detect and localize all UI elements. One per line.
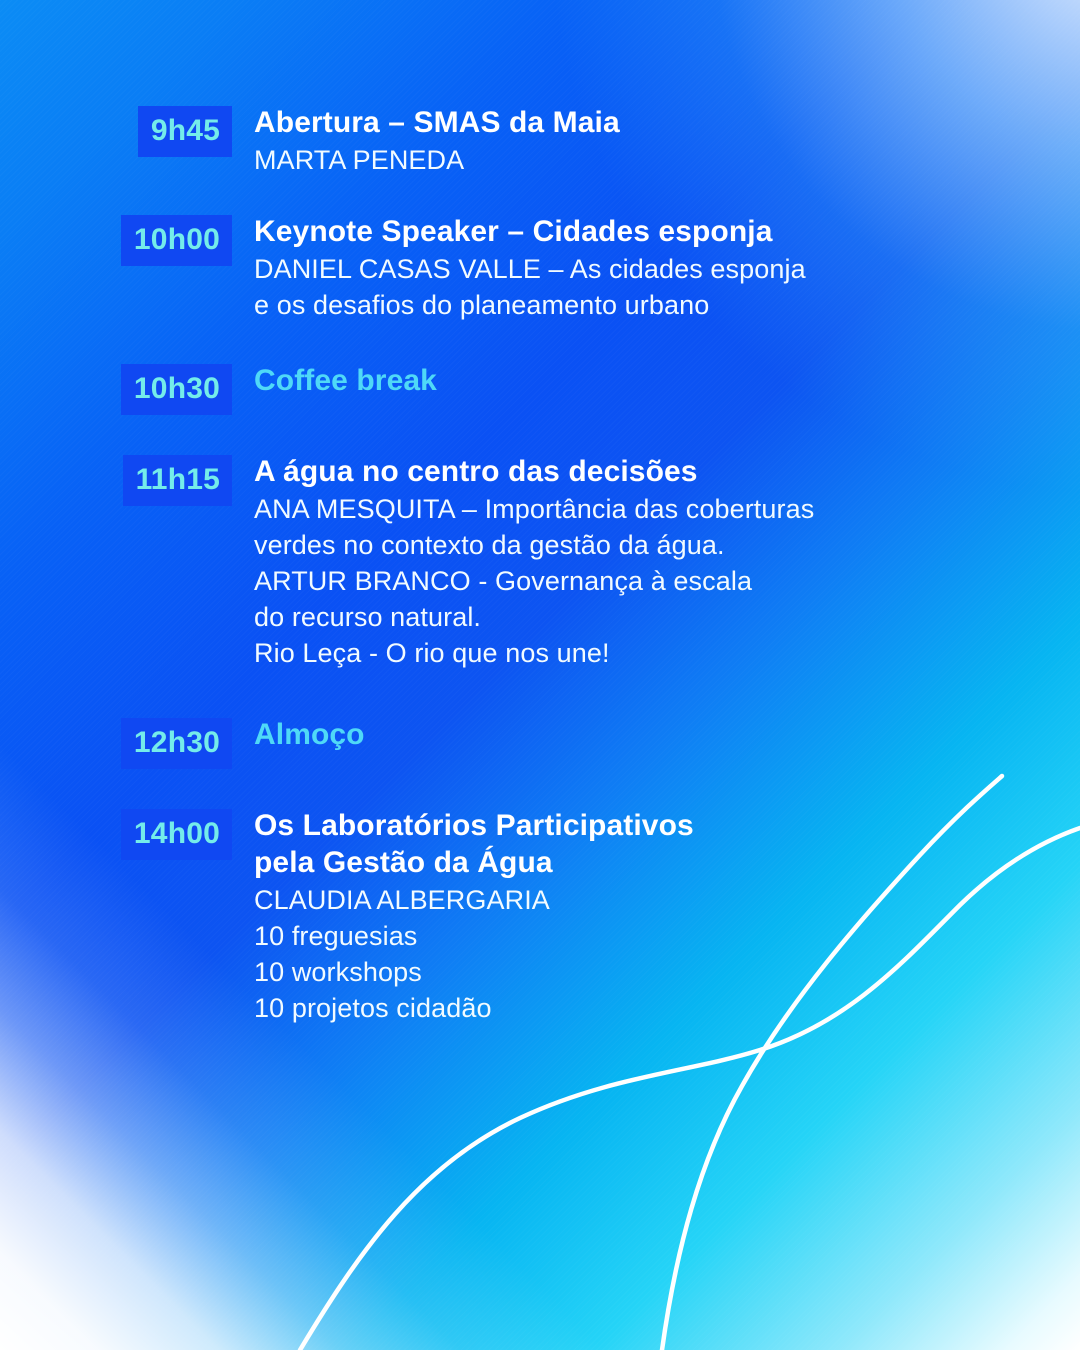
row-spacer: [0, 672, 1080, 716]
agenda-poster: 9h45 Abertura – SMAS da Maia MARTA PENED…: [0, 0, 1080, 1350]
text-column: Abertura – SMAS da Maia MARTA PENEDA: [232, 104, 1080, 179]
agenda-row-10h30: 10h30 Coffee break: [0, 362, 1080, 415]
text-column: Os Laboratórios Participativos pela Gest…: [232, 807, 1080, 1027]
time-column: 14h00: [0, 807, 232, 860]
time-column: 10h30: [0, 362, 232, 415]
text-column: Almoço: [232, 716, 1080, 755]
time-badge-9h45: 9h45: [138, 106, 232, 157]
time-badge-10h00: 10h00: [121, 215, 232, 266]
row-spacer: [0, 415, 1080, 453]
session-body-10h00: DANIEL CASAS VALLE – As cidades esponja …: [254, 252, 960, 324]
session-title-14h00: Os Laboratórios Participativos pela Gest…: [254, 807, 960, 881]
row-spacer: [0, 769, 1080, 807]
time-column: 12h30: [0, 716, 232, 769]
session-title-10h30: Coffee break: [254, 362, 960, 399]
time-badge-10h30: 10h30: [121, 364, 232, 415]
row-spacer: [0, 324, 1080, 362]
time-column: 9h45: [0, 104, 232, 157]
agenda-list: 9h45 Abertura – SMAS da Maia MARTA PENED…: [0, 0, 1080, 1027]
agenda-row-14h00: 14h00 Os Laboratórios Participativos pel…: [0, 807, 1080, 1027]
agenda-row-12h30: 12h30 Almoço: [0, 716, 1080, 769]
agenda-row-9h45: 9h45 Abertura – SMAS da Maia MARTA PENED…: [0, 104, 1080, 179]
time-column: 10h00: [0, 213, 232, 266]
time-column: 11h15: [0, 453, 232, 506]
text-column: Coffee break: [232, 362, 1080, 401]
text-column: Keynote Speaker – Cidades esponja DANIEL…: [232, 213, 1080, 324]
session-title-9h45: Abertura – SMAS da Maia: [254, 104, 960, 141]
text-column: A água no centro das decisões ANA MESQUI…: [232, 453, 1080, 672]
session-title-10h00: Keynote Speaker – Cidades esponja: [254, 213, 960, 250]
session-title-12h30: Almoço: [254, 716, 960, 753]
row-spacer: [0, 179, 1080, 213]
time-badge-11h15: 11h15: [123, 455, 232, 506]
session-body-11h15: ANA MESQUITA – Importância das cobertura…: [254, 492, 960, 672]
time-badge-12h30: 12h30: [121, 718, 232, 769]
agenda-row-10h00: 10h00 Keynote Speaker – Cidades esponja …: [0, 213, 1080, 324]
session-title-11h15: A água no centro das decisões: [254, 453, 960, 490]
time-badge-14h00: 14h00: [121, 809, 232, 860]
agenda-row-11h15: 11h15 A água no centro das decisões ANA …: [0, 453, 1080, 672]
session-body-14h00: CLAUDIA ALBERGARIA 10 freguesias 10 work…: [254, 883, 960, 1027]
session-body-9h45: MARTA PENEDA: [254, 143, 960, 179]
